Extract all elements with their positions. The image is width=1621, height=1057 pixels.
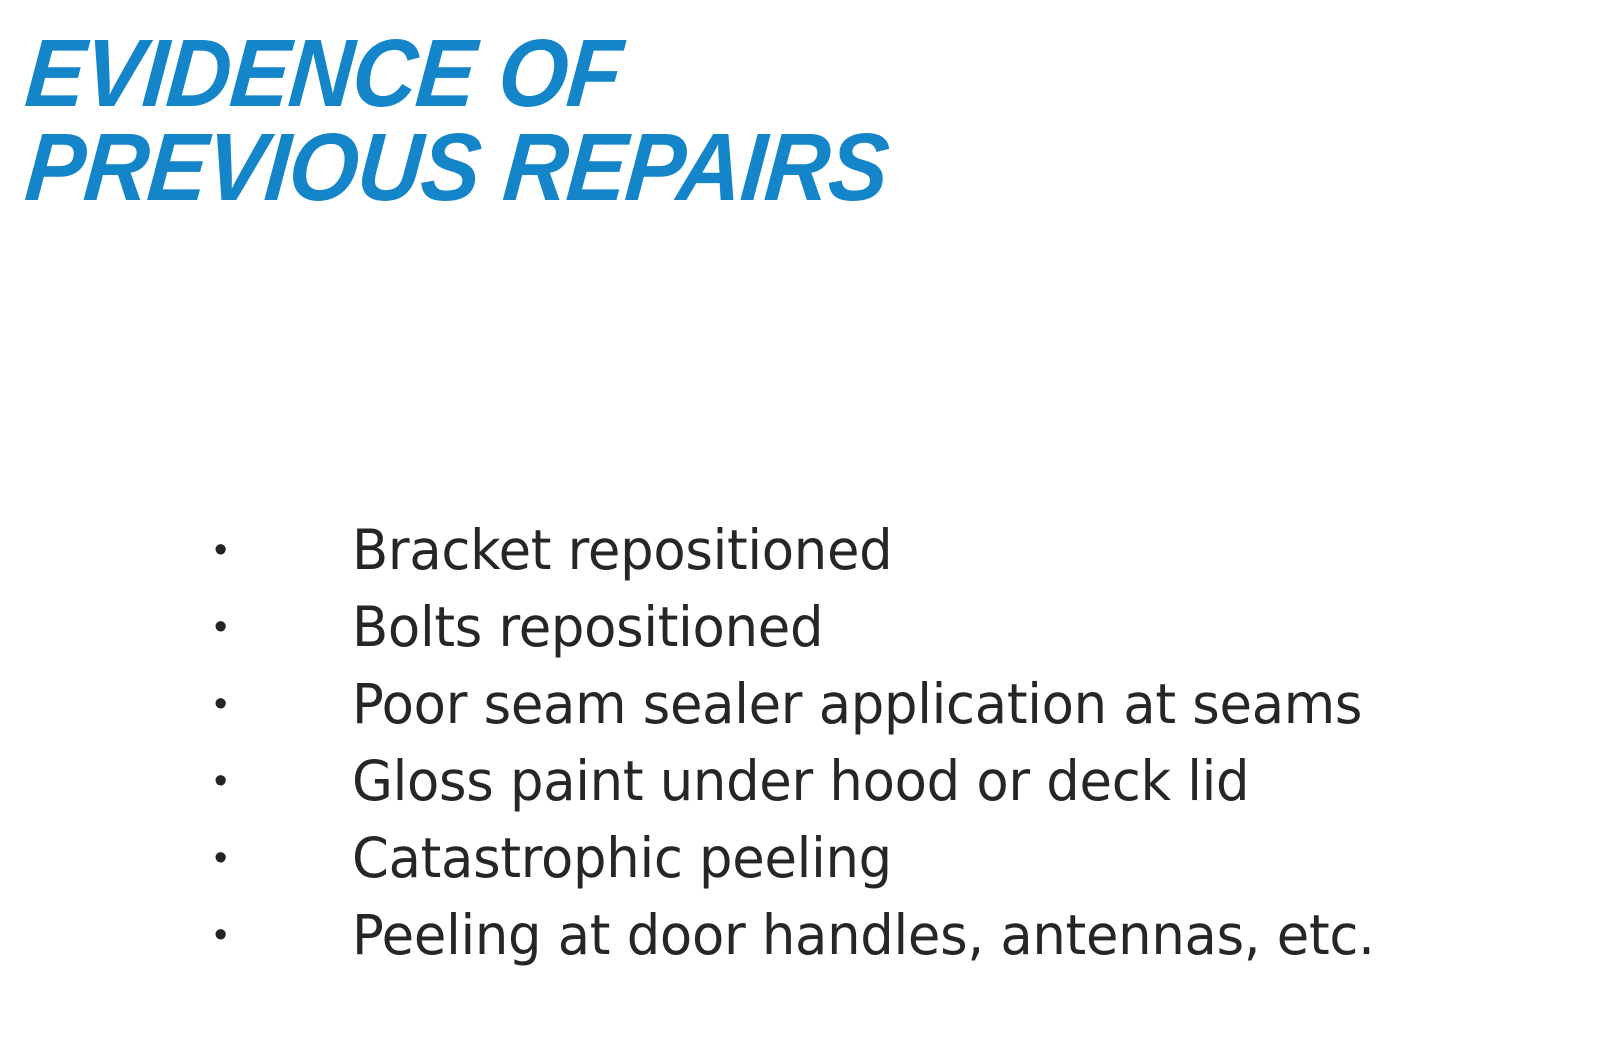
title-line-2: PREVIOUS REPAIRS [22, 121, 1480, 215]
list-item: • Poor seam sealer application at seams [200, 666, 1600, 743]
bullet-point-icon: • [214, 820, 228, 897]
list-item: • Catastrophic peeling [200, 820, 1600, 897]
bullet-point-icon: • [214, 512, 228, 589]
slide-title: EVIDENCE OF PREVIOUS REPAIRS [26, 27, 1586, 215]
list-item: • Peeling at door handles, antennas, etc… [200, 897, 1600, 974]
bullet-point-icon: • [214, 743, 228, 820]
bullet-list: • Bracket repositioned • Bolts repositio… [200, 512, 1600, 974]
bullet-point-icon: • [214, 897, 228, 974]
list-item: • Bracket repositioned [200, 512, 1600, 589]
bullet-point-icon: • [214, 589, 228, 666]
slide-canvas: EVIDENCE OF PREVIOUS REPAIRS • Bracket r… [0, 0, 1621, 1057]
list-item-label: Gloss paint under hood or deck lid [352, 743, 1249, 820]
list-item-label: Bolts repositioned [352, 589, 823, 666]
list-item-label: Catastrophic peeling [352, 820, 892, 897]
list-item: • Bolts repositioned [200, 589, 1600, 666]
list-item: • Gloss paint under hood or deck lid [200, 743, 1600, 820]
list-item-label: Peeling at door handles, antennas, etc. [352, 897, 1375, 974]
list-item-label: Poor seam sealer application at seams [352, 666, 1362, 743]
bullet-point-icon: • [214, 666, 228, 743]
title-line-1: EVIDENCE OF [22, 27, 1480, 121]
list-item-label: Bracket repositioned [352, 512, 892, 589]
